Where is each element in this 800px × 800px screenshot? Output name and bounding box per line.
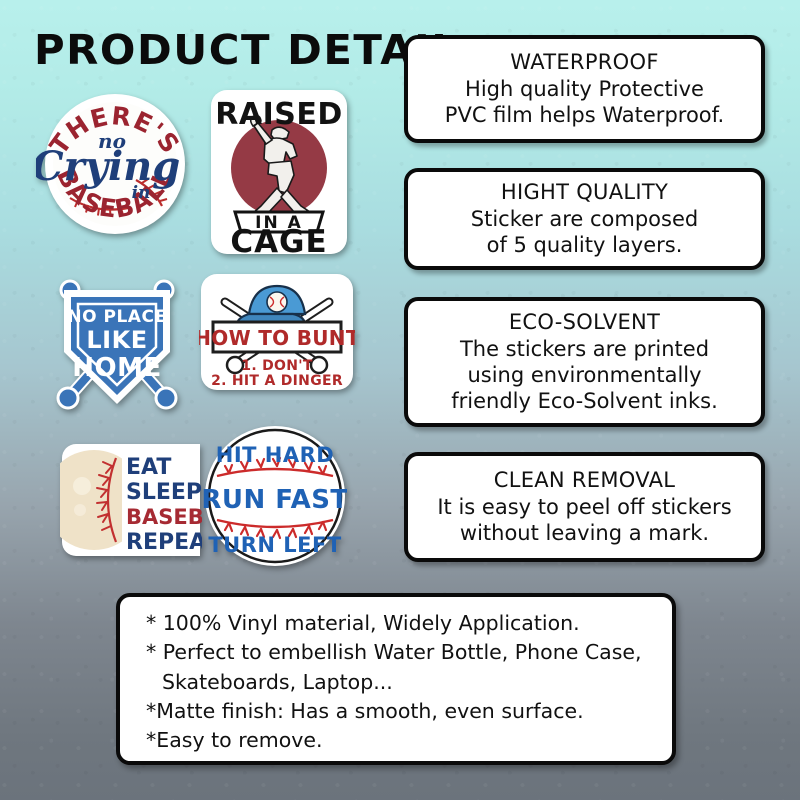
feature-line: High quality Protective [465, 76, 704, 102]
feature-box-hight-quality: HIGHT QUALITY Sticker are composed of 5 … [404, 168, 765, 270]
bullet-item: * Perfect to embellish Water Bottle, Pho… [146, 638, 654, 667]
sticker-crying-art: THERE'S BASEBALL no Crying in [36, 88, 194, 240]
bullet-list-box: * 100% Vinyl material, Widely Applicatio… [116, 593, 676, 765]
sticker-eat-sleep-baseball-repeat: EAT SLEEP BASEBALL REPEAT [60, 440, 202, 560]
feature-heading: ECO-SOLVENT [509, 310, 660, 336]
feature-heading: HIGHT QUALITY [501, 180, 668, 206]
feature-heading: CLEAN REMOVAL [494, 468, 676, 494]
bullet-item: *Easy to remove. [146, 726, 654, 755]
sticker-bunt-line1: HOW TO BUNT [199, 326, 355, 350]
bullet-item: *Matte finish: Has a smooth, even surfac… [146, 697, 654, 726]
bullet-item: Skateboards, Laptop... [146, 668, 654, 697]
sticker-bunt-art: HOW TO BUNT 1. DON'T 2. HIT A DINGER [199, 272, 355, 392]
sticker-no-place-like-home: NO PLACE LIKE HOME [38, 266, 196, 422]
feature-box-eco-solvent: ECO-SOLVENT The stickers are printed usi… [404, 297, 765, 427]
sticker-how-to-bunt: HOW TO BUNT 1. DON'T 2. HIT A DINGER [199, 272, 355, 392]
page-title: PRODUCT DETAIL [34, 26, 459, 74]
feature-box-waterproof: WATERPROOF High quality Protective PVC f… [404, 35, 765, 143]
sticker-theres-no-crying-in-baseball: THERE'S BASEBALL no Crying in [36, 88, 194, 240]
feature-line: PVC film helps Waterproof. [445, 102, 724, 128]
feature-line: friendly Eco-Solvent inks. [451, 388, 718, 414]
sticker-eat-line3: BASEBALL [126, 505, 202, 529]
feature-line: Sticker are composed [471, 206, 698, 232]
sticker-bunt-line2: 1. DON'T [241, 358, 313, 374]
sticker-eat-art: EAT SLEEP BASEBALL REPEAT [60, 440, 202, 560]
sticker-cage-line1: RAISED [215, 97, 342, 132]
feature-box-clean-removal: CLEAN REMOVAL It is easy to peel off sti… [404, 452, 765, 562]
feature-heading: WATERPROOF [510, 50, 658, 76]
sticker-home-line1: NO PLACE [67, 307, 166, 327]
feature-line: without leaving a mark. [460, 520, 709, 546]
sticker-hit-art: HIT HARD RUN FAST TURN LEFT [203, 424, 347, 568]
feature-line: of 5 quality layers. [487, 232, 683, 258]
sticker-cage-line3: CAGE [230, 224, 327, 258]
sticker-raised-in-a-cage: RAISED IN A CAGE [209, 86, 349, 258]
sticker-hit-line2: RUN FAST [203, 485, 347, 515]
feature-line: using environmentally [467, 362, 701, 388]
sticker-cage-art: RAISED IN A CAGE [209, 86, 349, 258]
sticker-crying-word-in: in [132, 183, 151, 203]
sticker-home-line2: LIKE [86, 326, 147, 354]
sticker-eat-line1: EAT [126, 455, 171, 480]
feature-line: The stickers are printed [460, 336, 709, 362]
sticker-eat-line2: SLEEP [126, 480, 202, 505]
sticker-home-art: NO PLACE LIKE HOME [38, 266, 196, 422]
sticker-bunt-line3: 2. HIT A DINGER [211, 373, 343, 389]
sticker-hit-line3: TURN LEFT [208, 533, 342, 557]
sticker-hit-line1: HIT HARD [216, 443, 334, 467]
sticker-eat-line4: REPEAT [126, 530, 202, 555]
bullet-item: * 100% Vinyl material, Widely Applicatio… [146, 609, 654, 638]
feature-line: It is easy to peel off stickers [437, 494, 731, 520]
sticker-hit-hard-run-fast-turn-left: HIT HARD RUN FAST TURN LEFT [203, 424, 347, 568]
sticker-home-line3: HOME [72, 353, 162, 383]
sticker-crying-word-crying: Crying [36, 143, 180, 190]
